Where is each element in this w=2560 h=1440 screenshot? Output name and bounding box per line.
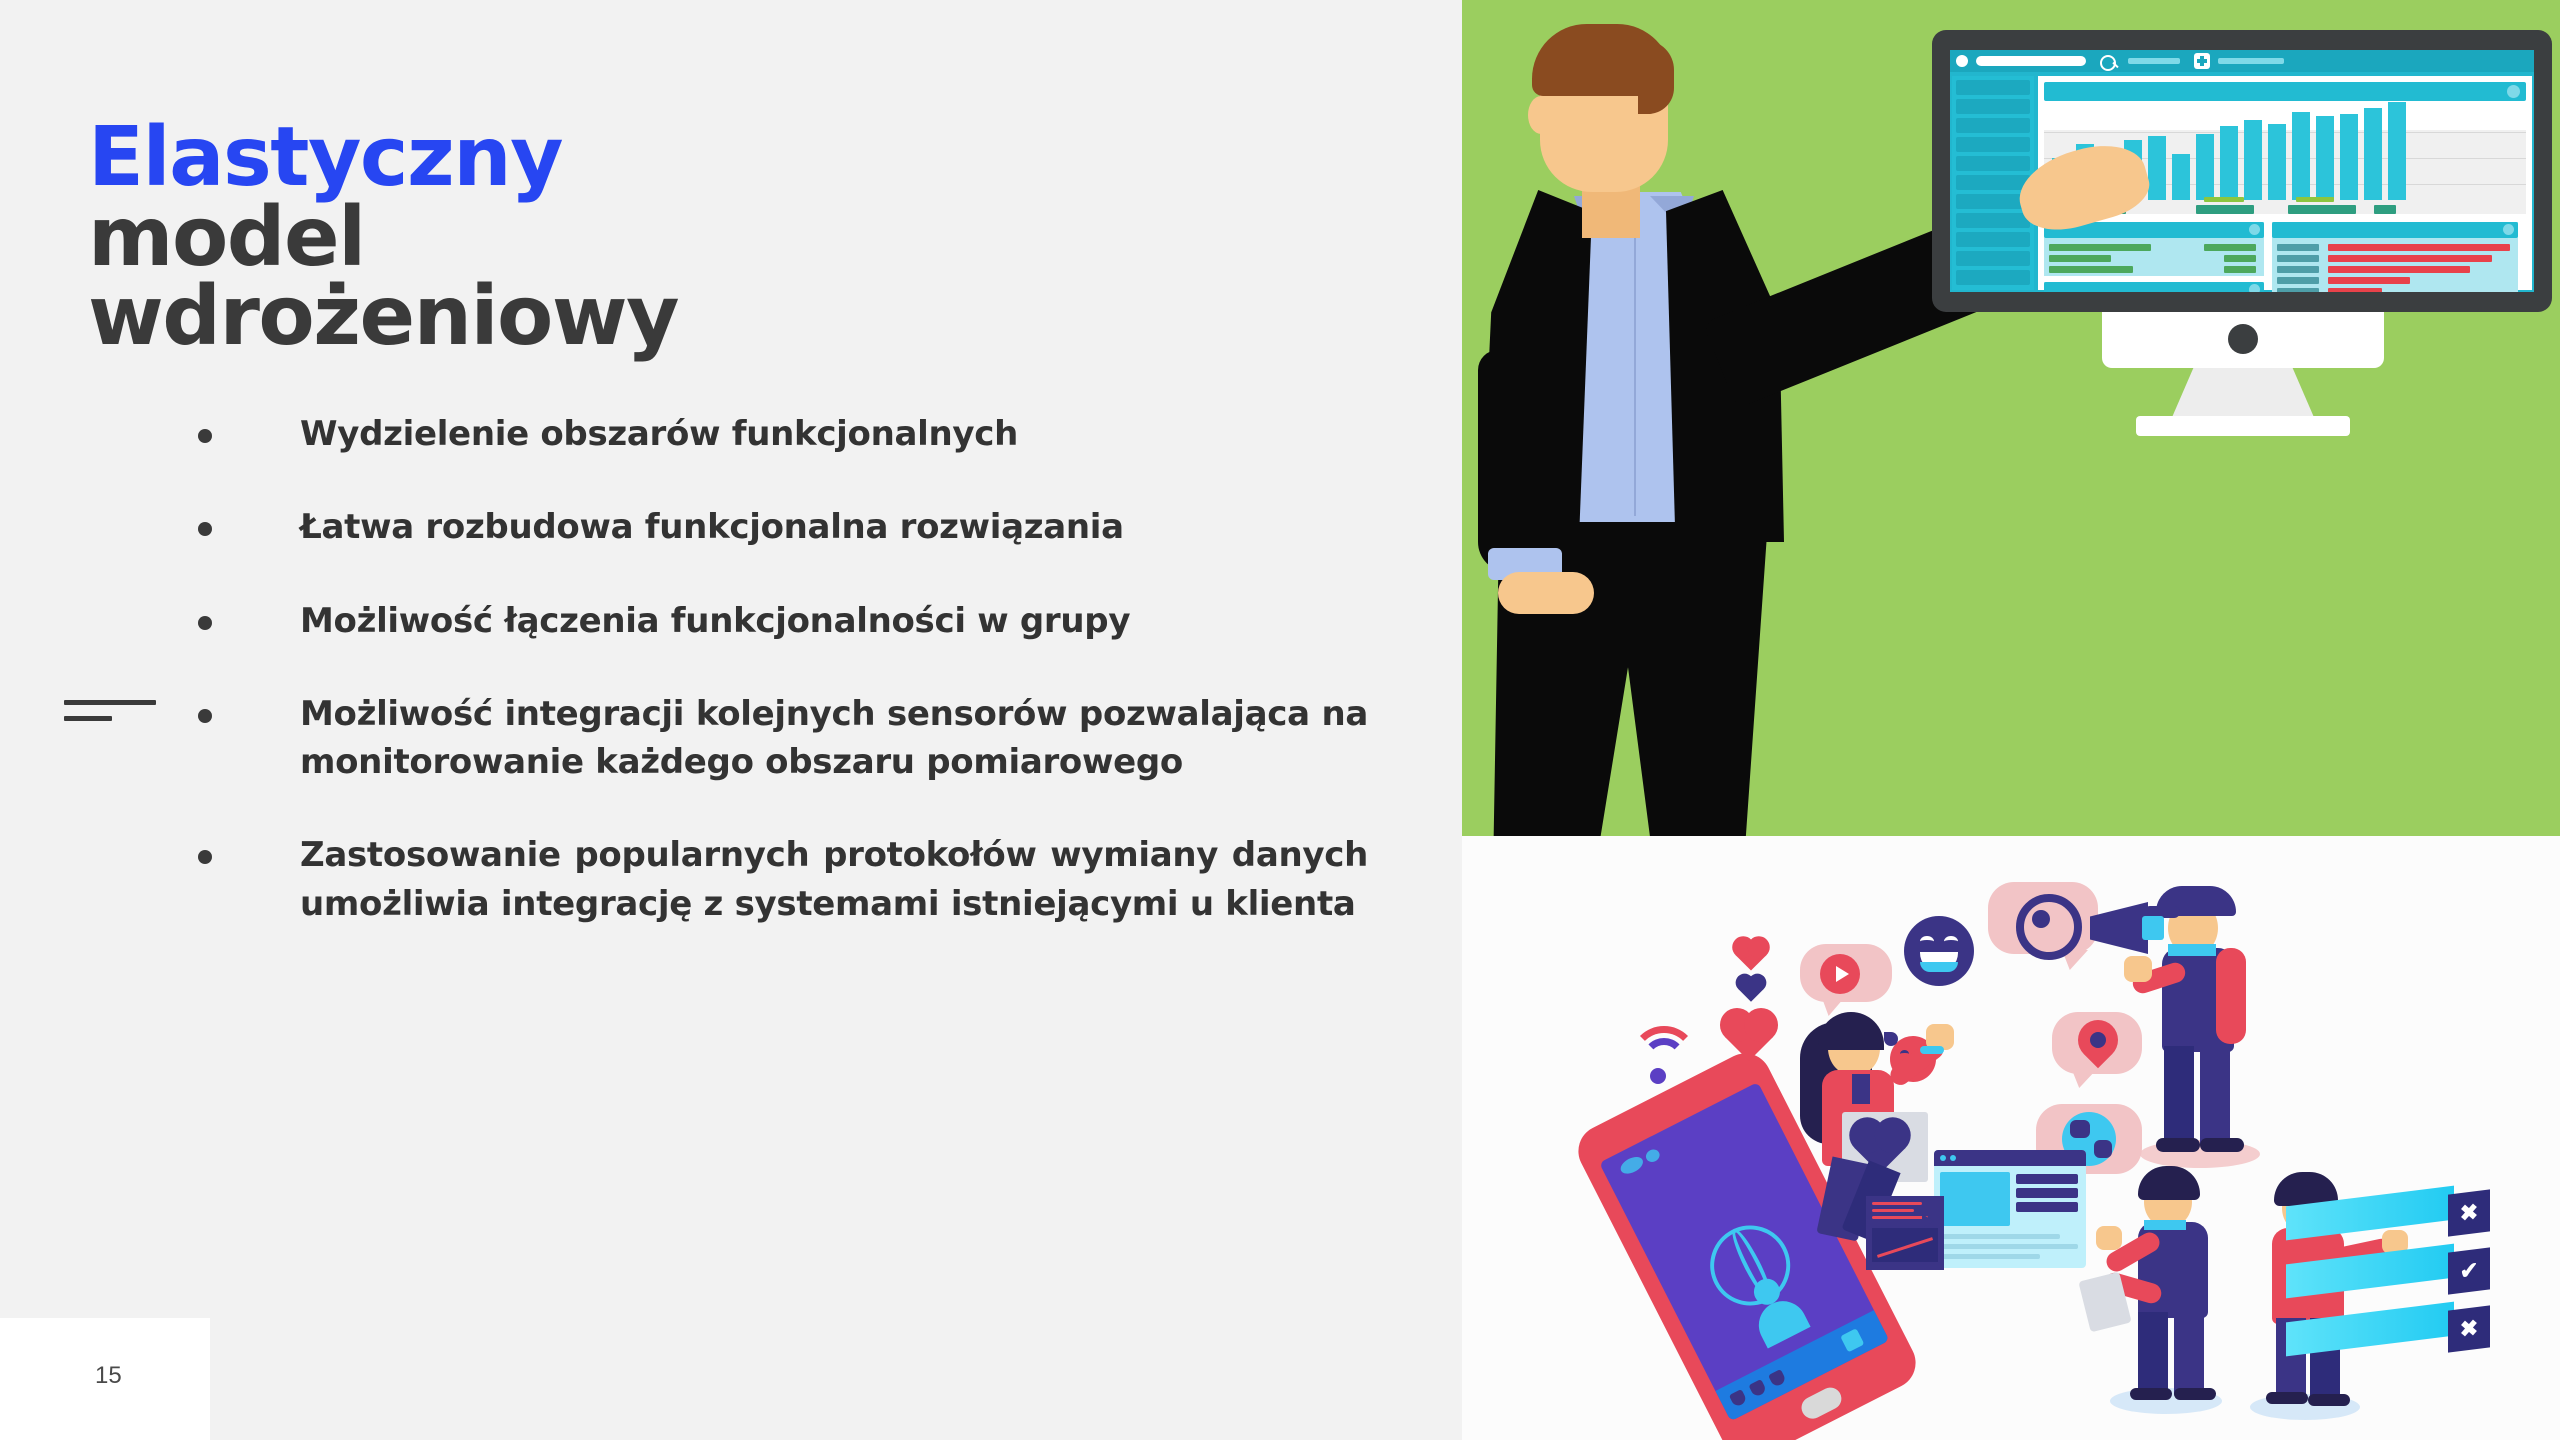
sidebar-item[interactable] <box>1956 80 2030 95</box>
businessman-hair-side <box>1638 40 1674 114</box>
desktop-monitor <box>1932 30 2552 430</box>
row-label <box>2277 288 2319 292</box>
smiley-tongue <box>1920 962 1958 972</box>
social-scene: ✖ ✔ ✖ <box>1622 872 2442 1412</box>
smiley-eye-left <box>1920 936 1934 947</box>
hbar <box>2328 288 2382 292</box>
bar <box>2172 154 2190 200</box>
man-with-tablet-figure <box>2090 1160 2250 1416</box>
hbar <box>2328 255 2492 262</box>
legend-chip <box>2374 205 2396 214</box>
man-with-megaphone-figure <box>2116 872 2296 1172</box>
businessman-jacket-left <box>1480 190 1592 550</box>
monitor-power-button[interactable] <box>2228 324 2258 354</box>
browser-dot-icon <box>1956 55 1968 67</box>
browser-toolbar <box>1950 50 2534 72</box>
bullet-dot-icon <box>198 616 212 630</box>
man-collar <box>2168 944 2216 956</box>
monitor-foot <box>2136 416 2350 436</box>
list-item: Łatwa rozbudowa funkcjonalna rozwiązania <box>198 503 1368 551</box>
bar <box>2196 134 2214 200</box>
man-leg <box>2200 1046 2230 1148</box>
shoe <box>2266 1392 2308 1404</box>
bar <box>2364 108 2382 200</box>
woman-collar <box>1852 1074 1870 1104</box>
shoe <box>2130 1388 2172 1400</box>
card-line <box>1940 1254 2040 1259</box>
decorative-lines-mark <box>64 700 156 721</box>
shoe <box>2308 1394 2350 1406</box>
man-leg <box>2174 1312 2204 1398</box>
man-leg <box>2138 1312 2168 1398</box>
row-label <box>2277 244 2319 251</box>
sidebar-item[interactable] <box>1956 175 2030 190</box>
title-line-3: wdrożeniowy <box>88 277 1088 357</box>
heart-icon[interactable] <box>1729 1389 1748 1408</box>
sidebar-item[interactable] <box>1956 251 2030 266</box>
red-bar-panel <box>2272 222 2518 292</box>
list-row <box>2049 244 2151 251</box>
legend-tag <box>2204 197 2244 202</box>
card-line <box>2016 1174 2078 1184</box>
card-line <box>1940 1234 2060 1239</box>
collapse-icon[interactable] <box>2503 224 2514 235</box>
title-line-1: Elastyczny <box>88 118 1088 198</box>
checklist-cross-icon[interactable]: ✖ <box>2448 1189 2490 1236</box>
page-title: Elastyczny model wdrożeniowy <box>88 118 1088 357</box>
chart-card-header <box>2044 82 2526 101</box>
man-hand <box>2124 956 2152 982</box>
man-hair <box>2138 1166 2200 1200</box>
card-line <box>1940 1244 2078 1249</box>
analytics-card <box>1866 1196 1944 1270</box>
list-row <box>2049 255 2111 262</box>
analytics-line <box>1872 1209 1914 1212</box>
heart-icon[interactable] <box>1768 1369 1787 1388</box>
analytics-line <box>1872 1202 1922 1205</box>
checklist-check-icon[interactable]: ✔ <box>2448 1247 2490 1294</box>
deco-line-short <box>64 716 112 721</box>
toolbar-label-1 <box>2128 58 2180 64</box>
bullet-text: Zastosowanie popularnych protokołów wymi… <box>300 831 1368 928</box>
card-line <box>2016 1188 2078 1198</box>
window-dot <box>1940 1155 1946 1161</box>
bullet-list: Wydzielenie obszarów funkcjonalnych Łatw… <box>198 410 1368 928</box>
wifi-icon-dot <box>1650 1068 1666 1084</box>
collapse-icon[interactable] <box>2249 284 2260 292</box>
sidebar-item[interactable] <box>1956 213 2030 228</box>
list-value <box>2224 266 2256 273</box>
bar <box>2220 126 2238 200</box>
sidebar-item[interactable] <box>1956 137 2030 152</box>
bar <box>2148 136 2166 200</box>
businessman-hand-left <box>1498 572 1594 614</box>
toolbar-label-2 <box>2218 58 2284 64</box>
phone-blob <box>1618 1154 1646 1177</box>
woman-hair-top <box>1818 1012 1884 1050</box>
bullet-dot-icon <box>198 522 212 536</box>
globe-land <box>2070 1120 2090 1138</box>
bar <box>2340 114 2358 200</box>
illustration-businessman-dashboard <box>1462 0 2560 836</box>
page-number: 15 <box>95 1362 122 1390</box>
megaphone-body <box>2142 916 2164 940</box>
man-hand <box>2096 1226 2122 1250</box>
panel-header <box>2272 222 2518 238</box>
bullet-text: Możliwość integracji kolejnych sensorów … <box>300 690 1368 787</box>
illustration-social-media-team: ✖ ✔ ✖ <box>1462 836 2560 1440</box>
smiley-emoji-icon <box>1904 916 1974 986</box>
sidebar-item[interactable] <box>1956 232 2030 247</box>
speech-bubble-tail <box>2072 1070 2096 1088</box>
bar <box>2292 112 2310 200</box>
analytics-line <box>1872 1216 1928 1219</box>
title-line-2: model <box>88 198 1088 278</box>
shoe <box>2174 1388 2216 1400</box>
man-leg <box>2164 1046 2194 1148</box>
shoe <box>2156 1138 2200 1152</box>
panel-header <box>2044 282 2264 292</box>
bullet-dot-icon <box>198 429 212 443</box>
heart-icon <box>1735 939 1766 970</box>
phone-blob <box>1644 1147 1662 1164</box>
man-backpack <box>2216 948 2246 1044</box>
legend-tag <box>2296 197 2334 202</box>
hbar <box>2328 266 2470 273</box>
dashboard-sidebar <box>1952 76 2034 290</box>
bar <box>2388 102 2406 200</box>
sidebar-item[interactable] <box>1956 99 2030 114</box>
collapse-icon[interactable] <box>2507 85 2520 98</box>
collapse-icon[interactable] <box>2249 224 2260 235</box>
man-collar <box>2144 1220 2186 1230</box>
heart-icon <box>1725 1013 1773 1061</box>
trend-arrow <box>1922 1214 1934 1228</box>
card-image <box>1940 1172 2010 1226</box>
row-label <box>2277 277 2319 284</box>
bullet-dot-icon <box>198 850 212 864</box>
legend-chip <box>2288 205 2356 214</box>
businessman-shirt-seam <box>1634 226 1636 516</box>
bullet-text: Łatwa rozbudowa funkcjonalna rozwiązania <box>300 503 1368 551</box>
list-item: Zastosowanie popularnych protokołów wymi… <box>198 831 1368 928</box>
at-symbol-icon <box>2016 894 2082 960</box>
browser-window-card <box>1934 1150 2086 1268</box>
list-item: Wydzielenie obszarów funkcjonalnych <box>198 410 1368 458</box>
sidebar-item[interactable] <box>1956 156 2030 171</box>
green-list-panel <box>2044 222 2264 276</box>
woman-wristband <box>1920 1046 1944 1054</box>
legend-chip <box>2196 205 2254 214</box>
page-number-badge: 15 <box>0 1318 210 1440</box>
at-symbol-dot <box>2032 910 2050 928</box>
list-item: Możliwość integracji kolejnych sensorów … <box>198 690 1368 787</box>
list-item: Możliwość łączenia funkcjonalności w gru… <box>198 597 1368 645</box>
browser-titlebar <box>1934 1150 2086 1166</box>
list-value <box>2224 255 2256 262</box>
window-dot <box>1950 1155 1956 1161</box>
heart-icon <box>1738 976 1763 1001</box>
bar <box>2244 120 2262 200</box>
play-button-icon[interactable] <box>1820 954 1860 994</box>
row-label <box>2277 266 2319 273</box>
smiley-eye-right <box>1944 936 1958 947</box>
play-triangle <box>1836 966 1849 982</box>
list-row <box>2049 266 2133 273</box>
bullet-text: Możliwość łączenia funkcjonalności w gru… <box>300 597 1368 645</box>
presentation-slide: Elastyczny model wdrożeniowy Wydzielenie… <box>0 0 2560 1440</box>
bullet-dot-icon <box>198 709 212 723</box>
hbar <box>2328 277 2410 284</box>
purple-list-panel <box>2044 282 2264 292</box>
sidebar-item[interactable] <box>1956 118 2030 133</box>
monitor-stand <box>2170 368 2316 422</box>
location-pin-dot <box>2090 1032 2106 1048</box>
thumbs-up-icon[interactable] <box>1840 1328 1864 1352</box>
list-value <box>2204 244 2256 251</box>
bar <box>2268 124 2286 200</box>
browser-address-bar <box>1976 56 2086 66</box>
globe-land <box>2094 1140 2112 1158</box>
sidebar-item[interactable] <box>1956 270 2030 285</box>
shoe <box>2200 1138 2244 1152</box>
megaphone-icon <box>2090 902 2148 954</box>
bullet-text: Wydzielenie obszarów funkcjonalnych <box>300 410 1368 458</box>
card-line <box>2016 1202 2078 1212</box>
deco-line-long <box>64 700 156 705</box>
phone-home-button[interactable] <box>1798 1384 1845 1423</box>
monitor-bezel <box>1932 30 2552 312</box>
hbar <box>2328 244 2510 251</box>
bar <box>2316 116 2334 200</box>
add-icon-h <box>2197 59 2207 63</box>
checklist-cross-icon[interactable]: ✖ <box>2448 1305 2490 1352</box>
row-label <box>2277 255 2319 262</box>
heart-icon[interactable] <box>1748 1379 1767 1398</box>
